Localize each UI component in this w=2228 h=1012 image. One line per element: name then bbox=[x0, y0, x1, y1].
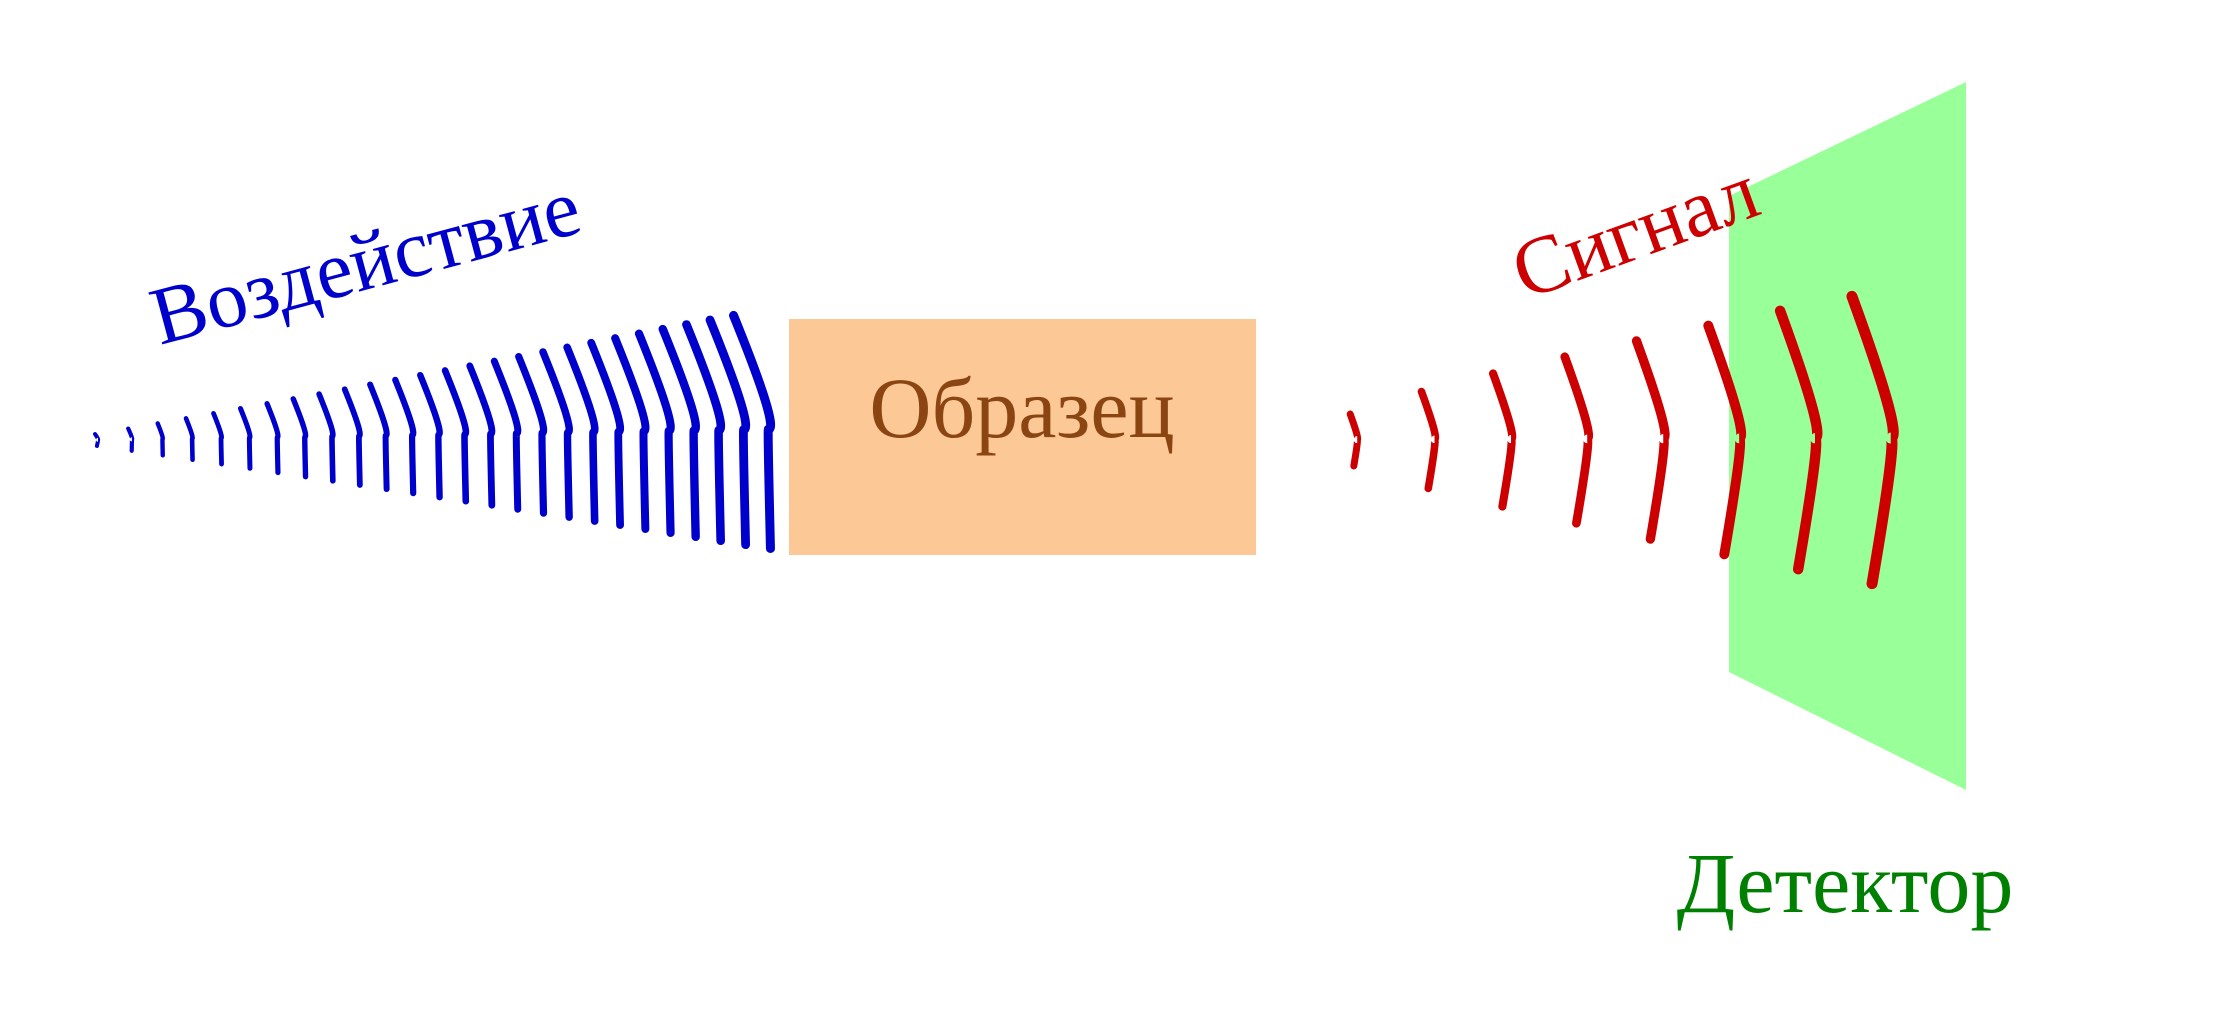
detector-label: Детектор bbox=[1677, 835, 2014, 931]
sample-label: Образец bbox=[869, 360, 1174, 456]
diagram-canvas: Воздействие Образец Сигнал Детектор bbox=[0, 0, 2228, 1012]
detector-panel bbox=[1729, 82, 1966, 790]
diagram-svg: Воздействие Образец Сигнал Детектор bbox=[0, 0, 2228, 1012]
